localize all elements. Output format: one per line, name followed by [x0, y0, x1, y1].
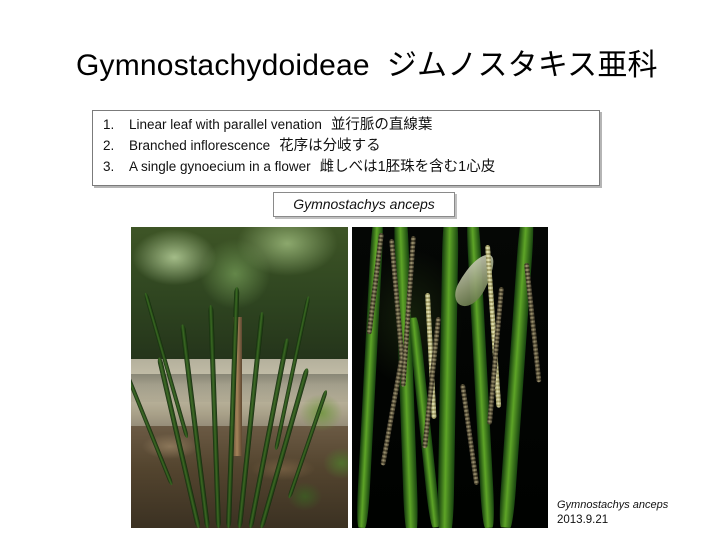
species-caption-text: Gymnostachys anceps	[293, 196, 435, 212]
list-item: 3.A single gynoecium in a flower雌しべは1胚珠を…	[103, 156, 593, 177]
habit-photo	[131, 227, 348, 528]
slide-canvas: Gymnostachydoideae ジムノスタキス亜科 1.Linear le…	[0, 0, 720, 540]
list-item-text-jp: 花序は分岐する	[279, 138, 381, 154]
list-item-number: 2.	[103, 135, 129, 156]
features-list-box: 1.Linear leaf with parallel venation並行脈の…	[92, 110, 600, 186]
photo-credit: Gymnostachys anceps 2013.9.21	[557, 498, 707, 528]
inflorescence-photo	[352, 227, 548, 528]
list-item: 1.Linear leaf with parallel venation並行脈の…	[103, 114, 593, 135]
list-item-text-jp: 並行脈の直線葉	[331, 117, 433, 133]
species-caption-box: Gymnostachys anceps	[273, 192, 455, 217]
list-item-text-en: Linear leaf with parallel venation	[129, 117, 322, 132]
list-item: 2.Branched inflorescence花序は分岐する	[103, 135, 593, 156]
list-item-text-en: A single gynoecium in a flower	[129, 159, 311, 174]
list-item-text-en: Branched inflorescence	[129, 138, 270, 153]
credit-date: 2013.9.21	[557, 513, 707, 528]
credit-species-name: Gymnostachys anceps	[557, 498, 707, 513]
list-item-number: 1.	[103, 114, 129, 135]
page-title: Gymnostachydoideae ジムノスタキス亜科	[76, 48, 676, 84]
list-item-text-jp: 雌しべは1胚珠を含む1心皮	[320, 159, 496, 175]
list-item-number: 3.	[103, 156, 129, 177]
